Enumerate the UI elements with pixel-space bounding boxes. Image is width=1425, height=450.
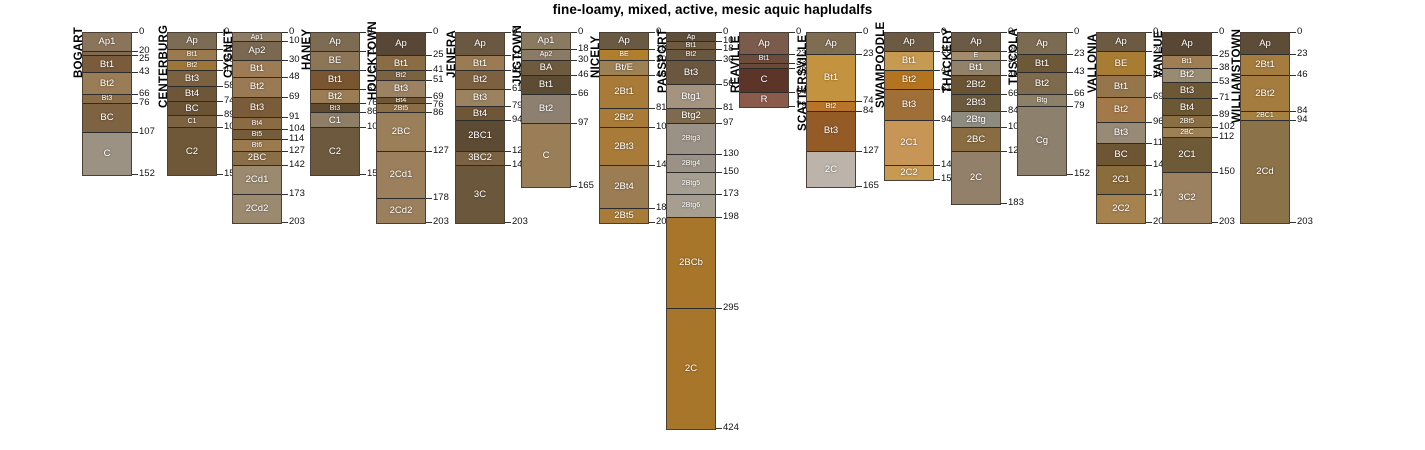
depth-label: 150	[1219, 167, 1235, 177]
depth-label: 89	[1219, 110, 1230, 120]
horizon-ap1: Ap1	[522, 33, 570, 50]
horizon-ap: Ap	[952, 33, 1000, 52]
horizon-label: 2C1	[900, 138, 917, 148]
axis-tick	[505, 55, 511, 56]
axis-tick	[856, 101, 862, 102]
axis-tick	[505, 106, 511, 107]
depth-label: 66	[578, 89, 589, 99]
horizon-label: Ap	[329, 37, 341, 47]
depth-label: 25	[433, 50, 444, 60]
depth-label: 0	[139, 27, 144, 37]
horizon-2btg4: 2Btg4	[667, 155, 715, 174]
horizon-label: 2Bt5	[614, 211, 634, 221]
profile-column: ApBEBt1Bt2Bt3C1C2	[310, 32, 360, 176]
horizon-label: 2BC	[967, 135, 985, 145]
profile-column: ApBt1CR	[739, 32, 789, 108]
horizon-bt3: Bt3	[885, 90, 933, 121]
horizon-label: Ap	[1115, 37, 1127, 47]
axis-tick	[649, 60, 655, 61]
depth-label: 10	[289, 36, 300, 46]
depth-label: 69	[289, 92, 300, 102]
axis-tick	[217, 101, 223, 102]
horizon-label: 3C	[474, 190, 486, 200]
horizon-ap1: Ap1	[233, 33, 281, 42]
axis-tick	[282, 97, 288, 98]
horizon-c1: C1	[311, 113, 359, 128]
horizon-label: Bt2	[1035, 79, 1049, 89]
horizon-label: Bt6	[252, 142, 263, 149]
horizon-ap1: Ap1	[83, 33, 131, 52]
horizon-2bt5: 2Bt5	[1163, 116, 1211, 128]
axis-tick	[716, 32, 722, 33]
axis-tick	[649, 208, 655, 209]
horizon-label: Bt5	[252, 131, 263, 138]
horizon-3c2: 3C2	[1163, 173, 1211, 223]
horizon-label: 2C1	[1178, 150, 1195, 160]
axis-tick	[934, 32, 940, 33]
horizon-c1: C1	[168, 116, 216, 128]
axis-tick	[132, 32, 138, 33]
depth-label: 295	[723, 303, 739, 313]
axis-tick	[856, 32, 862, 33]
horizon-label: Ap	[186, 36, 198, 46]
horizon-label: BC	[185, 104, 198, 114]
horizon-label: Bt3	[185, 74, 199, 84]
horizon-label: Bt3	[1114, 128, 1128, 138]
depth-label: 173	[723, 189, 739, 199]
axis-tick	[1146, 32, 1152, 33]
axis-tick	[649, 75, 655, 76]
horizon-bt2: Bt2	[1097, 98, 1145, 123]
horizon-bt2: Bt2	[311, 90, 359, 104]
axis-tick	[360, 89, 366, 90]
horizon-label: Ap2	[249, 46, 266, 56]
axis-tick	[789, 106, 795, 107]
horizon-2cd2: 2Cd2	[377, 199, 425, 222]
horizon-2bt2: 2Bt2	[600, 109, 648, 129]
depth-label: 107	[139, 127, 155, 137]
axis-tick	[282, 165, 288, 166]
horizon-label: Bt1	[1035, 59, 1049, 69]
horizon-bt3: Bt3	[1097, 123, 1145, 145]
horizon-label: Bt3	[102, 95, 113, 102]
depth-label: 0	[578, 27, 583, 37]
horizon-bt1: Bt1	[311, 71, 359, 90]
horizon-3c: 3C	[456, 166, 504, 223]
horizon-label: 2C2	[900, 168, 917, 178]
axis-tick	[426, 97, 432, 98]
horizon-be: BE	[600, 50, 648, 61]
horizon-label: BC	[100, 113, 113, 123]
horizon-2c2: 2C2	[1097, 195, 1145, 223]
profile-column: ApBt1Bt2Bt3Bt42BC13BC23C	[455, 32, 505, 224]
horizon-bt2: Bt2	[233, 78, 281, 98]
horizon-label: Bt2	[396, 72, 407, 79]
axis-tick	[360, 112, 366, 113]
axis-tick	[505, 222, 511, 223]
horizon-bt4: Bt4	[456, 107, 504, 121]
depth-label: 203	[512, 217, 528, 227]
axis-tick	[426, 55, 432, 56]
horizon-btg1: Btg1	[667, 85, 715, 108]
horizon-ap: Ap	[885, 33, 933, 52]
horizon-ap: Ap	[667, 33, 715, 42]
axis-tick	[1001, 94, 1007, 95]
horizon-be: BE	[311, 52, 359, 72]
horizon-label: Ap	[474, 39, 486, 49]
horizon-label: C2	[329, 147, 341, 157]
horizon-label: Cg	[1036, 136, 1048, 146]
horizon-label: Bt1	[969, 63, 983, 73]
axis-tick	[217, 127, 223, 128]
horizon-bt1: Bt1	[740, 55, 788, 64]
horizon-2bt2: 2Bt2	[1241, 76, 1289, 112]
horizon-c: C	[83, 133, 131, 175]
axis-tick	[716, 194, 722, 195]
axis-tick	[1067, 174, 1073, 175]
depth-label: 0	[1219, 27, 1224, 37]
depth-label: 203	[289, 217, 305, 227]
profile-column: Ap1Ap2BABt1Bt2C	[521, 32, 571, 188]
axis-tick	[1001, 151, 1007, 152]
horizon-bt2: Bt2	[667, 50, 715, 61]
axis-tick	[132, 55, 138, 56]
depth-label: 152	[1074, 169, 1090, 179]
profile-column: Ap2Bt12Bt22BC12Cd	[1240, 32, 1290, 224]
depth-label: 30	[578, 55, 589, 65]
horizon-label: Ap2	[540, 51, 552, 58]
axis-tick	[426, 103, 432, 104]
horizon-bt1: Bt1	[456, 56, 504, 71]
axis-tick	[856, 151, 862, 152]
axis-tick	[716, 84, 722, 85]
horizon-label: 2Cd	[1256, 167, 1273, 177]
horizon-bt2: Bt2	[1018, 73, 1066, 95]
horizon-label: Btg2	[681, 111, 701, 121]
horizon-ap: Ap	[600, 33, 648, 50]
horizon-label: Bt2	[187, 62, 198, 69]
horizon-label: C	[761, 75, 768, 85]
horizon-label: Bt1	[187, 51, 198, 58]
axis-tick	[1001, 127, 1007, 128]
axis-tick	[649, 108, 655, 109]
axis-tick	[505, 89, 511, 90]
horizon-bt6: Bt6	[233, 140, 281, 152]
axis-tick	[1001, 60, 1007, 61]
horizon-label: 2Cd1	[246, 175, 269, 185]
horizon-label: Bt/E	[615, 63, 633, 73]
axis-tick	[571, 186, 577, 187]
profile-column: Ap1Ap2Bt1Bt2Bt3Bt4Bt5Bt62BC2Cd12Cd2	[232, 32, 282, 224]
axis-tick	[716, 308, 722, 309]
horizon-label: Ap	[395, 39, 407, 49]
axis-tick	[571, 123, 577, 124]
horizon-label: Bt4	[252, 120, 263, 127]
horizon-2bc: 2BC	[233, 152, 281, 166]
horizon-bt2: Bt2	[168, 61, 216, 71]
depth-label: 127	[863, 146, 879, 156]
depth-label: 203	[1297, 217, 1313, 227]
horizon-label: 2C1	[1112, 175, 1129, 185]
horizon-label: Bt2	[1114, 105, 1128, 115]
axis-tick	[1146, 143, 1152, 144]
horizon-label: 2Bt4	[614, 182, 634, 192]
horizon-label: 2Bt3	[614, 142, 634, 152]
depth-label: 424	[723, 423, 739, 433]
depth-label: 84	[863, 106, 874, 116]
horizon-bt1: Bt1	[807, 55, 855, 103]
depth-label: 48	[289, 72, 300, 82]
horizon-2bt3: 2Bt3	[600, 128, 648, 165]
horizon-label: C2	[186, 147, 198, 157]
horizon-label: Bt3	[684, 68, 698, 78]
horizon-label: Bt2	[539, 104, 553, 114]
horizon-2btg5: 2Btg5	[667, 173, 715, 195]
axis-tick	[934, 51, 940, 52]
axis-tick	[282, 151, 288, 152]
horizon-label: 2Bt5	[1180, 118, 1194, 125]
axis-tick	[1001, 111, 1007, 112]
axis-tick	[934, 89, 940, 90]
horizon-label: Ap	[1036, 39, 1048, 49]
horizon-label: C	[104, 149, 111, 159]
horizon-bt2: Bt2	[456, 71, 504, 90]
depth-label: 94	[1297, 115, 1308, 125]
profile-column: ApBt1Bt2Bt3Btg1Btg22Btg32Btg42Btg52Btg62…	[666, 32, 716, 430]
horizon-label: 2Bt2	[1255, 89, 1275, 99]
depth-label: 71	[1219, 93, 1230, 103]
horizon-c: C	[522, 124, 570, 188]
depth-label: 23	[863, 49, 874, 59]
horizon-label: Bt3	[473, 93, 487, 103]
horizon-bt2: Bt2	[83, 73, 131, 95]
horizon-label: Btg	[1037, 97, 1048, 104]
axis-tick	[1146, 51, 1152, 52]
profile-column: ApBEBt/E2Bt12Bt22Bt32Bt42Bt5	[599, 32, 649, 224]
horizon-ap2: Ap2	[233, 42, 281, 61]
axis-tick	[934, 179, 940, 180]
horizon-bt3: Bt3	[667, 61, 715, 85]
horizon-label: Bt1	[824, 73, 838, 83]
horizon-2c: 2C	[952, 152, 1000, 204]
axis-tick	[716, 428, 722, 429]
profile-column: ApBt1Bt2Bt3Bt42Bt52BC2Cd12Cd2	[376, 32, 426, 224]
horizon-ap: Ap	[456, 33, 504, 56]
profile-column: ApBt1Bt2Bt32C	[806, 32, 856, 188]
horizon-label: Bt1	[100, 60, 114, 70]
depth-label: 127	[289, 146, 305, 156]
axis-tick	[1146, 75, 1152, 76]
horizon-label: R	[761, 95, 768, 105]
horizon-label: 2Cd2	[246, 204, 269, 214]
depth-label: 97	[578, 118, 589, 128]
horizon-bt4: Bt4	[168, 87, 216, 102]
axis-tick	[1212, 222, 1218, 223]
horizon-2bt5: 2Bt5	[377, 104, 425, 113]
profile-column: Ap1Bt1Bt2Bt3BCC	[82, 32, 132, 176]
depth-label: 43	[1074, 67, 1085, 77]
depth-label: 76	[139, 98, 150, 108]
horizon-label: 2BC1	[468, 131, 492, 141]
depth-label: 152	[139, 169, 155, 179]
horizon-label: C1	[188, 118, 197, 125]
horizon-bt4: Bt4	[233, 118, 281, 130]
horizon-bt2: Bt2	[522, 95, 570, 124]
horizon-c2: C2	[311, 128, 359, 175]
axis-tick	[571, 94, 577, 95]
horizon-label: Bt1	[473, 59, 487, 69]
horizon-label: Ap	[618, 36, 630, 46]
horizon-ap: Ap	[168, 33, 216, 50]
horizon-label: Bt2	[250, 82, 264, 92]
horizon-label: Ap	[687, 34, 696, 41]
horizon-2btg6: 2Btg6	[667, 195, 715, 218]
horizon-2cd: 2Cd	[1241, 121, 1289, 223]
horizon-label: Ap1	[538, 36, 555, 46]
axis-tick	[1212, 68, 1218, 69]
depth-label: 203	[433, 217, 449, 227]
horizon-label: 2Bt1	[1255, 60, 1275, 70]
depth-label: 0	[863, 27, 868, 37]
horizon-bt-e: Bt/E	[600, 61, 648, 76]
horizon-c: C	[740, 69, 788, 93]
axis-tick	[716, 60, 722, 61]
horizon-2bc: 2BC	[1163, 128, 1211, 137]
axis-tick	[132, 94, 138, 95]
horizon-2bcb: 2BCb	[667, 218, 715, 309]
horizon-3bc2: 3BC2	[456, 152, 504, 166]
axis-tick	[426, 80, 432, 81]
horizon-label: BE	[619, 51, 628, 58]
horizon-bt1: Bt1	[1018, 55, 1066, 74]
depth-label: 91	[289, 112, 300, 122]
horizon-label: Ap1	[99, 37, 116, 47]
horizon-bc: BC	[1097, 144, 1145, 166]
axis-tick	[282, 41, 288, 42]
horizon-label: Ap	[903, 37, 915, 47]
axis-tick	[1290, 32, 1296, 33]
axis-tick	[716, 217, 722, 218]
horizon-bt1: Bt1	[1163, 56, 1211, 68]
depth-label: 25	[139, 54, 150, 64]
profile-column: ApBEBt1Bt2Bt3BC2C12C2	[1096, 32, 1146, 224]
axis-tick	[505, 70, 511, 71]
horizon-ba: BA	[522, 61, 570, 76]
horizon-label: Bt4	[1180, 103, 1194, 113]
depth-label: 112	[1219, 132, 1234, 142]
depth-label: 46	[1297, 70, 1308, 80]
horizon-bt3: Bt3	[83, 95, 131, 104]
axis-tick	[217, 86, 223, 87]
horizon-cg: Cg	[1018, 107, 1066, 175]
axis-tick	[1001, 203, 1007, 204]
horizon-label: Bt1	[686, 42, 697, 49]
axis-tick	[856, 186, 862, 187]
horizon-bt1: Bt1	[522, 76, 570, 95]
horizon-label: Bt4	[185, 89, 199, 99]
horizon-2btg3: 2Btg3	[667, 124, 715, 155]
horizon-2bc: 2BC	[377, 113, 425, 151]
horizon-label: BC	[1114, 150, 1127, 160]
horizon-bt2: Bt2	[885, 71, 933, 90]
depth-label: 127	[433, 146, 449, 156]
axis-tick	[132, 51, 138, 52]
axis-tick	[426, 222, 432, 223]
horizon-bt3: Bt3	[168, 71, 216, 87]
horizon-2c: 2C	[667, 309, 715, 430]
horizon-label: BE	[1115, 59, 1128, 69]
axis-tick	[282, 129, 288, 130]
horizon-bc: BC	[168, 102, 216, 116]
depth-label: 25	[1219, 50, 1230, 60]
depth-label: 23	[1297, 49, 1308, 59]
axis-tick	[571, 75, 577, 76]
axis-tick	[132, 103, 138, 104]
axis-tick	[934, 70, 940, 71]
axis-tick	[716, 154, 722, 155]
horizon-2c1: 2C1	[1097, 166, 1145, 195]
horizon-label: Bt1	[539, 80, 553, 90]
horizon-2cd1: 2Cd1	[233, 166, 281, 195]
axis-tick	[217, 115, 223, 116]
horizon-label: E	[974, 52, 979, 59]
horizon-bt4: Bt4	[1163, 99, 1211, 116]
horizon-ap: Ap	[807, 33, 855, 55]
profile-column: ApBt1Bt2Bt3Bt42Bt52BC2C13C2	[1162, 32, 1212, 224]
axis-tick	[571, 32, 577, 33]
horizon-label: Bt4	[396, 98, 407, 104]
axis-tick	[132, 72, 138, 73]
axis-tick	[1212, 32, 1218, 33]
horizon-bt1: Bt1	[952, 61, 1000, 76]
horizon-bt3: Bt3	[456, 90, 504, 107]
horizon-label: Bt2	[686, 51, 697, 58]
depth-label: 81	[656, 103, 667, 113]
page-title: fine-loamy, mixed, active, mesic aquic h…	[0, 2, 1425, 17]
axis-tick	[789, 92, 795, 93]
axis-tick	[505, 120, 511, 121]
horizon-bc: BC	[83, 104, 131, 133]
axis-tick	[360, 127, 366, 128]
axis-tick	[1146, 194, 1152, 195]
axis-tick	[1001, 75, 1007, 76]
axis-tick	[716, 41, 722, 42]
horizon-e: E	[952, 52, 1000, 61]
axis-tick	[426, 198, 432, 199]
axis-tick	[360, 103, 366, 104]
profile-column: ApBt1Bt2Bt3Bt4BCC1C2	[167, 32, 217, 176]
axis-tick	[426, 151, 432, 152]
axis-tick	[1067, 32, 1073, 33]
axis-tick	[649, 127, 655, 128]
horizon-bt1: Bt1	[1097, 76, 1145, 98]
depth-label: 150	[723, 167, 739, 177]
horizon-label: 2Bt2	[614, 113, 634, 123]
horizon-label: Ap1	[251, 34, 263, 41]
axis-tick	[1067, 72, 1073, 73]
horizon-bt1: Bt1	[377, 56, 425, 71]
horizon-bt3: Bt3	[311, 104, 359, 113]
depth-label: 81	[723, 103, 734, 113]
axis-tick	[1001, 51, 1007, 52]
axis-tick	[856, 54, 862, 55]
axis-tick	[1146, 122, 1152, 123]
horizon-label: Bt2	[328, 92, 342, 102]
axis-tick	[1067, 94, 1073, 95]
horizon-bt1: Bt1	[885, 52, 933, 72]
horizon-label: 2Cd2	[390, 206, 413, 216]
axis-tick	[1146, 97, 1152, 98]
